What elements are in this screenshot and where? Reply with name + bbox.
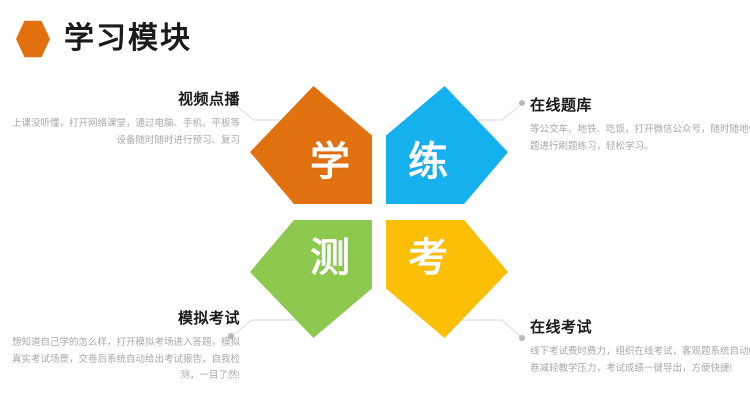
page-title: 学习模块 [16,20,192,58]
heading-online-exam: 在线考试 [530,316,750,337]
heading-mock-exam: 模拟考试 [8,307,240,328]
pentagon-study-label: 学 [310,142,350,182]
text-block-bottom-left: 模拟考试 想知道自己学的怎么样，打开模拟考场进入答题，模拟真实考试场景，交卷后系… [8,307,240,385]
pentagon-exam-label: 考 [408,238,448,278]
pentagon-practice[interactable]: 练 [386,86,508,204]
pentagon-study[interactable]: 学 [250,86,372,204]
body-video-on-demand: 上课没听懂，打开网络课堂，通过电脑、手机、平板等设备随时随时进行预习、复习 [8,116,240,149]
body-mock-exam: 想知道自己学的怎么样，打开模拟考场进入答题，模拟真实考试场景，交卷后系统自动给出… [8,335,240,385]
heading-online-question-bank: 在线题库 [530,94,750,115]
pentagon-test[interactable]: 测 [250,220,372,338]
body-online-exam: 线下考试费时费力，组织在线考试，客观题系统自动阅卷减轻教学压力，考试成绩一键导出… [530,344,750,377]
connector-dot-top-right [519,100,525,106]
pentagon-exam[interactable]: 考 [386,220,508,338]
connector-dot-bottom-right [519,335,525,341]
text-block-bottom-right: 在线考试 线下考试费时费力，组织在线考试，客观题系统自动阅卷减轻教学压力，考试成… [530,316,750,377]
pentagon-cluster: 学 练 测 考 [250,86,508,338]
slide-canvas: 学习模块 学 练 测 考 视频点播 上课没听懂，打开网络课堂，通过 [0,0,750,413]
heading-video-on-demand: 视频点播 [8,88,240,109]
body-online-question-bank: 等公交车、地铁、吃饭，打开微信公众号，随时随地做题进行刷题练习，轻松学习。 [530,122,750,155]
hexagon-icon [16,20,50,58]
pentagon-test-label: 测 [310,238,350,278]
text-block-top-right: 在线题库 等公交车、地铁、吃饭，打开微信公众号，随时随地做题进行刷题练习，轻松学… [530,94,750,155]
text-block-top-left: 视频点播 上课没听懂，打开网络课堂，通过电脑、手机、平板等设备随时随时进行预习、… [8,88,240,149]
page-title-label: 学习模块 [64,24,192,54]
pentagon-practice-label: 练 [408,142,448,182]
